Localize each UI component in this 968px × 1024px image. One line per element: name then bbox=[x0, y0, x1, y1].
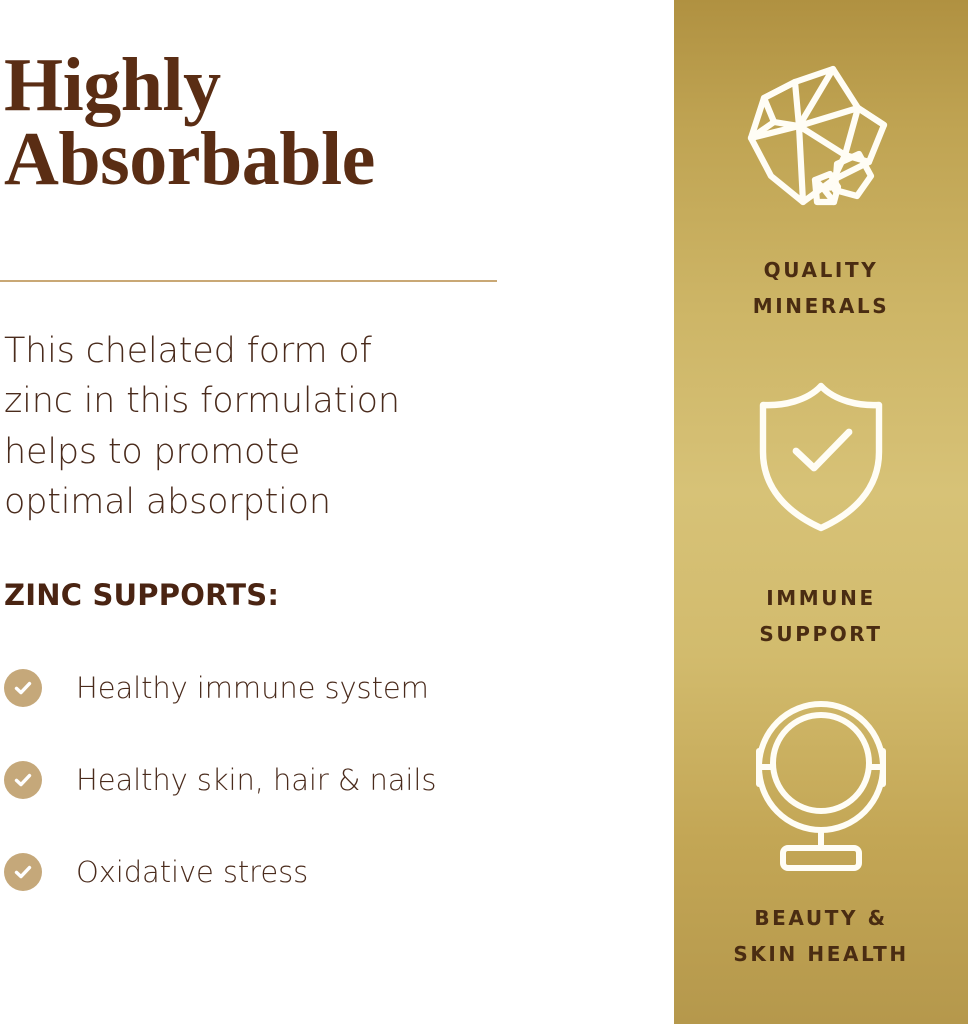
page-title: Highly Absorbable bbox=[4, 48, 604, 197]
list-item-label: Oxidative stress bbox=[76, 858, 308, 887]
panel-item-beauty-skin-health: BEAUTY & SKIN HEALTH bbox=[674, 696, 968, 972]
list-item: Healthy immune system bbox=[4, 662, 624, 714]
list-item-label: Healthy immune system bbox=[76, 674, 429, 703]
shield-check-icon bbox=[750, 378, 892, 539]
panel-item-label: QUALITY MINERALS bbox=[753, 253, 890, 324]
benefits-gold-panel: QUALITY MINERALS IMMUNE SUPPORT bbox=[674, 0, 968, 1024]
list-item: Oxidative stress bbox=[4, 846, 624, 898]
check-circle-icon bbox=[4, 761, 42, 799]
zinc-supports-heading: ZINC SUPPORTS: bbox=[4, 578, 279, 612]
vanity-mirror-icon bbox=[743, 696, 899, 879]
left-content-column: Highly Absorbable This chelated form of … bbox=[0, 0, 674, 1024]
product-infographic: Highly Absorbable This chelated form of … bbox=[0, 0, 968, 1024]
mineral-crystals-icon bbox=[737, 52, 905, 225]
benefits-list: Healthy immune system Healthy skin, hair… bbox=[4, 662, 624, 938]
body-paragraph: This chelated form of zinc in this formu… bbox=[4, 326, 474, 528]
list-item: Healthy skin, hair & nails bbox=[4, 754, 624, 806]
panel-item-label: BEAUTY & SKIN HEALTH bbox=[733, 901, 908, 972]
check-circle-icon bbox=[4, 669, 42, 707]
panel-item-label: IMMUNE SUPPORT bbox=[759, 581, 882, 652]
panel-item-immune-support: IMMUNE SUPPORT bbox=[674, 378, 968, 652]
check-circle-icon bbox=[4, 853, 42, 891]
list-item-label: Healthy skin, hair & nails bbox=[76, 766, 436, 795]
panel-item-quality-minerals: QUALITY MINERALS bbox=[674, 52, 968, 324]
divider-rule bbox=[0, 280, 497, 282]
